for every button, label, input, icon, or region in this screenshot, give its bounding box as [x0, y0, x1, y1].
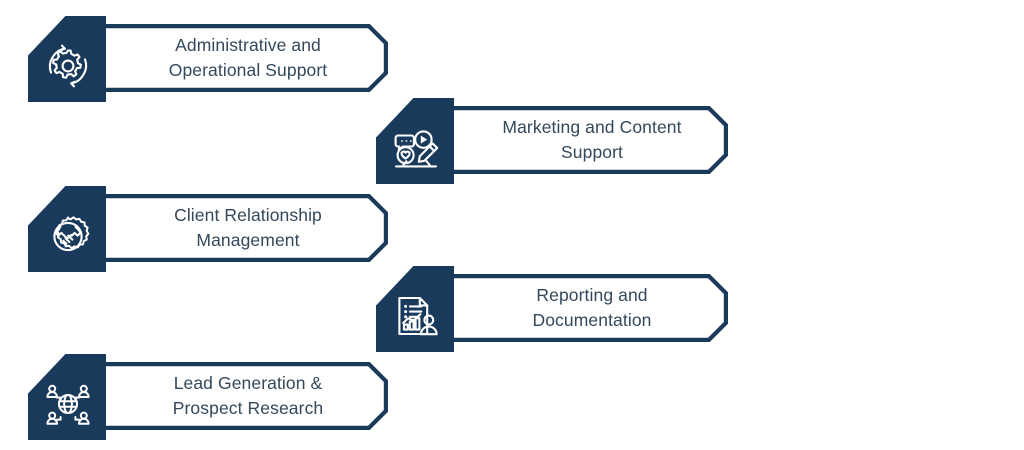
item-label: Administrative andOperational Support	[86, 24, 388, 92]
handshake-gear-icon	[42, 210, 94, 262]
item-label-line2: Prospect Research	[173, 396, 324, 421]
diagram-item-client-relationship-management[interactable]: Client RelationshipManagement	[28, 186, 388, 272]
chat-video-pencil-icon	[390, 122, 442, 174]
item-label-line2: Documentation	[532, 308, 651, 333]
icon-badge	[28, 16, 106, 102]
diagram-canvas: Administrative andOperational Support Ma…	[0, 0, 1024, 450]
diagram-item-administrative-and-operational-support[interactable]: Administrative andOperational Support	[28, 16, 388, 102]
item-label: Lead Generation &Prospect Research	[86, 362, 388, 430]
item-label: Client RelationshipManagement	[86, 194, 388, 262]
diagram-item-lead-generation-and-prospect-research[interactable]: Lead Generation &Prospect Research	[28, 354, 388, 440]
item-label-line1: Marketing and Content	[502, 115, 681, 140]
banner-shape: Lead Generation &Prospect Research	[86, 362, 388, 430]
item-label-line1: Reporting and	[536, 283, 647, 308]
icon-badge	[28, 186, 106, 272]
document-chart-person-icon	[390, 290, 442, 342]
item-label-line1: Lead Generation &	[174, 371, 323, 396]
item-label-line1: Client Relationship	[174, 203, 322, 228]
banner-shape: Marketing and ContentSupport	[434, 106, 728, 174]
globe-network-people-icon	[42, 378, 94, 430]
banner-shape: Reporting andDocumentation	[434, 274, 728, 342]
icon-badge	[28, 354, 106, 440]
gear-refresh-icon	[42, 40, 94, 92]
item-label-line2: Management	[196, 228, 299, 253]
icon-badge	[376, 266, 454, 352]
diagram-item-marketing-and-content-support[interactable]: Marketing and ContentSupport	[376, 98, 728, 184]
item-label: Marketing and ContentSupport	[434, 106, 728, 174]
item-label-line2: Support	[561, 140, 623, 165]
item-label: Reporting andDocumentation	[434, 274, 728, 342]
item-label-line2: Operational Support	[169, 58, 328, 83]
icon-badge	[376, 98, 454, 184]
item-label-line1: Administrative and	[175, 33, 321, 58]
banner-shape: Client RelationshipManagement	[86, 194, 388, 262]
diagram-item-reporting-and-documentation[interactable]: Reporting andDocumentation	[376, 266, 728, 352]
banner-shape: Administrative andOperational Support	[86, 24, 388, 92]
